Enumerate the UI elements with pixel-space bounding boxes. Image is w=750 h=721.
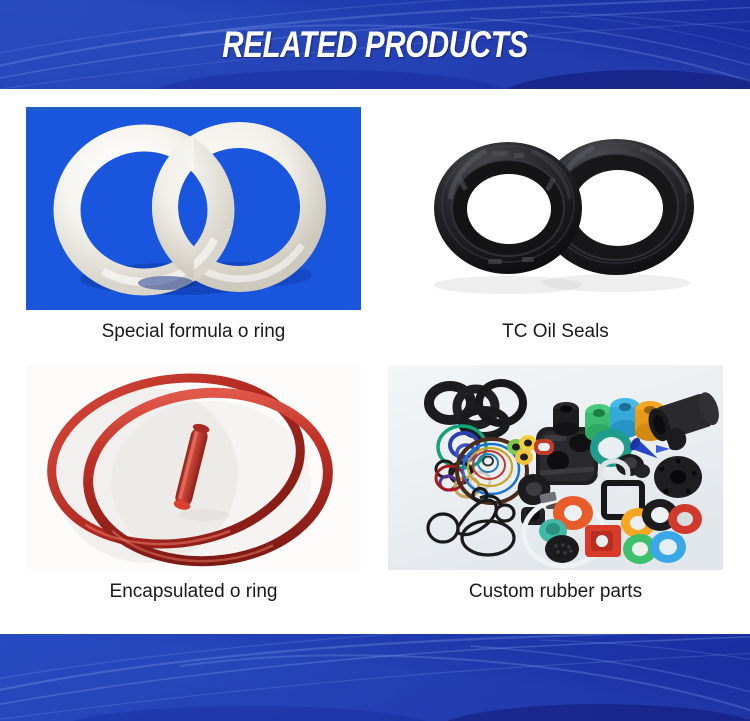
product-label-special-formula-o-ring: Special formula o ring — [26, 321, 361, 343]
product-card-tc-oil-seals[interactable]: TC Oil Seals — [375, 89, 750, 355]
assorted-custom-rubber-parts-photo[interactable] — [388, 365, 723, 570]
related-products-grid: Special formula o ring — [0, 89, 750, 634]
white-ptfe-o-rings-photo[interactable] — [26, 107, 361, 310]
page-title: RELATED PRODUCTS — [75, 24, 675, 66]
product-card-custom-rubber-parts[interactable]: Custom rubber parts — [375, 355, 750, 634]
faq-banner: FAQ — [0, 634, 750, 721]
product-card-encapsulated-o-ring[interactable]: Encapsulated o ring — [0, 355, 375, 634]
red-encapsulated-o-rings-photo[interactable] — [26, 365, 361, 570]
product-label-custom-rubber-parts: Custom rubber parts — [388, 581, 723, 603]
banner-wave-graphic — [0, 634, 750, 721]
product-label-tc-oil-seals: TC Oil Seals — [388, 321, 723, 343]
product-card-special-formula-o-ring[interactable]: Special formula o ring — [0, 89, 375, 355]
related-products-banner: RELATED PRODUCTS — [0, 0, 750, 89]
product-label-encapsulated-o-ring: Encapsulated o ring — [26, 581, 361, 603]
black-tc-oil-seals-photo[interactable] — [388, 107, 723, 310]
